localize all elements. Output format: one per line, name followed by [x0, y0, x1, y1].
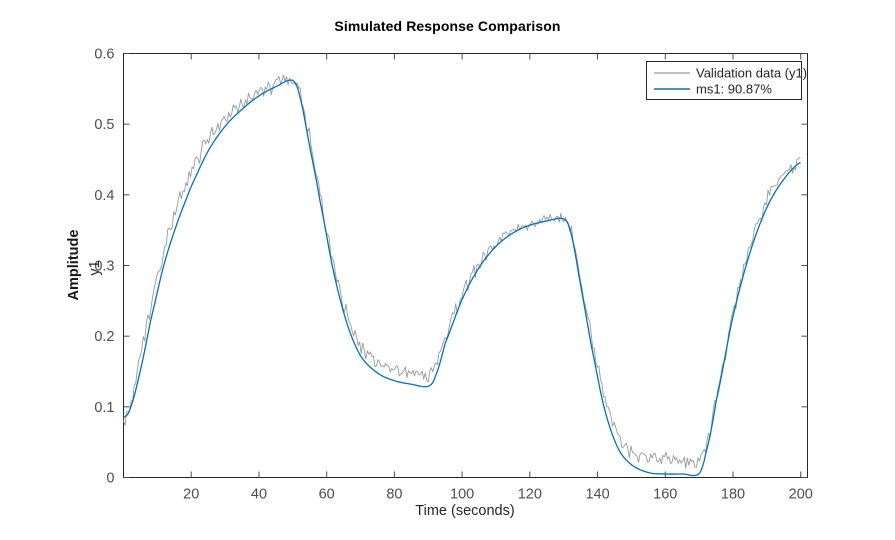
x-tick-label: 160 [653, 487, 677, 503]
series-line-ms1 [124, 80, 801, 475]
x-axis-tick-labels: 20406080100120140160180200 [183, 487, 813, 503]
legend-item-ms1[interactable]: ms1: 90.87% [696, 82, 772, 97]
x-tick-label: 80 [386, 487, 402, 503]
x-tick-label: 200 [789, 487, 813, 503]
y-axis-title-inner: y1 [87, 260, 103, 275]
x-tick-label: 20 [183, 487, 199, 503]
y-tick-label: 0 [106, 471, 114, 487]
y-tick-label: 0.1 [94, 400, 114, 416]
x-axis-ticks [191, 54, 801, 478]
series-line-validation-data [124, 75, 801, 468]
x-tick-label: 180 [721, 487, 745, 503]
data-series-group [124, 75, 801, 475]
y-tick-label: 0.6 [94, 47, 114, 63]
figure-canvas: Simulated Response Comparison 2040608010… [0, 0, 895, 540]
y-tick-label: 0.4 [94, 188, 114, 204]
x-tick-label: 120 [518, 487, 542, 503]
x-tick-label: 60 [319, 487, 335, 503]
x-axis-title: Time (seconds) [415, 503, 514, 519]
x-tick-label: 100 [450, 487, 474, 503]
y-tick-label: 0.2 [94, 329, 114, 345]
chart-plot-area: 20406080100120140160180200 00.10.20.30.4… [0, 0, 895, 540]
axes-box [124, 54, 808, 478]
x-tick-label: 40 [251, 487, 267, 503]
x-tick-label: 140 [585, 487, 609, 503]
legend-item-validation-data[interactable]: Validation data (y1) [696, 66, 807, 81]
y-axis-title-outer: Amplitude [66, 230, 82, 301]
y-axis-ticks [124, 54, 808, 478]
y-tick-label: 0.5 [94, 117, 114, 133]
legend[interactable]: Validation data (y1) ms1: 90.87% [647, 62, 808, 100]
